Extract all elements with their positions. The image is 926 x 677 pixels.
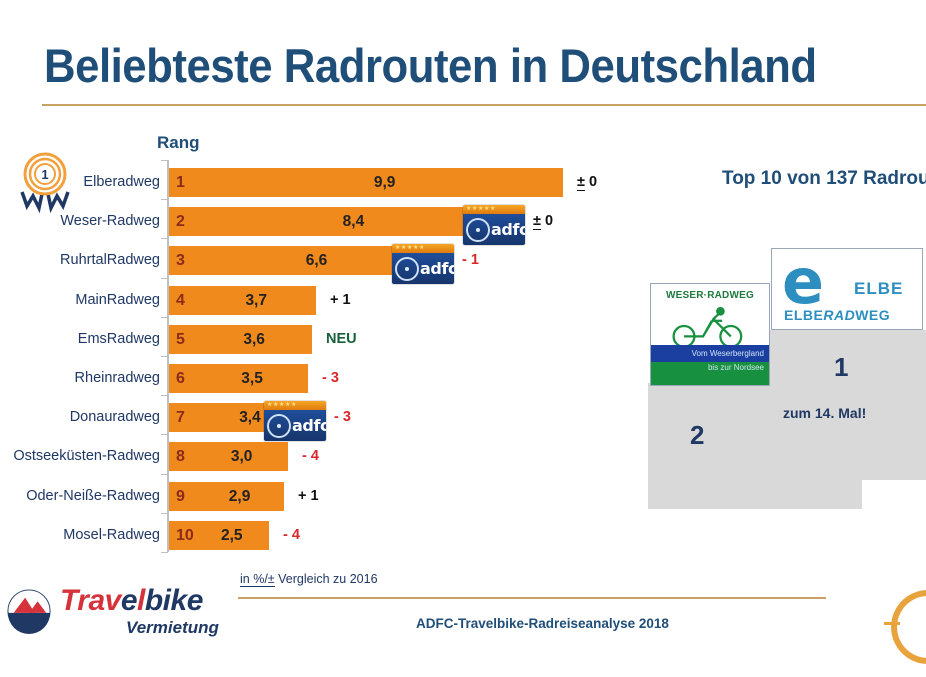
axis-tick: [161, 238, 168, 239]
adfc-badge-stars: ★★★★★: [264, 401, 326, 410]
elbe-word-c: WEG: [855, 307, 890, 323]
rank-change-label: + 1: [330, 286, 351, 315]
star-icon: ★: [478, 207, 483, 212]
title-divider: [42, 104, 926, 106]
bar: [169, 442, 288, 471]
rank-change-label: NEU: [326, 325, 357, 354]
travelbike-logo: Travelbike Vermietung: [6, 586, 224, 658]
rank-number: 1: [176, 168, 185, 197]
source-caption: ADFC-Travelbike-Radreiseanalyse 2018: [416, 616, 669, 631]
rank-change-label: + 1: [298, 482, 319, 511]
chart-row: Mosel-Radweg102,5- 4: [0, 516, 926, 554]
rank-change-label: - 3: [334, 403, 351, 432]
footer-divider: [238, 597, 826, 599]
bar: [169, 364, 308, 393]
tb-part-1: Trav: [60, 584, 121, 617]
podium-second-number: 2: [690, 420, 704, 451]
bike-wheel-icon: [395, 257, 419, 281]
elbe-logo-mark: e: [782, 251, 824, 313]
star-icon: ★: [466, 207, 471, 212]
weser-radweg-logo: WESER·RADWEG Vom Weserbergland bis zur N…: [650, 283, 770, 386]
rank-change-label: - 4: [302, 442, 319, 471]
travelbike-subtitle: Vermietung: [126, 618, 219, 638]
elbe-word-a: ELBE: [784, 307, 823, 323]
star-icon: ★: [490, 207, 495, 212]
category-label: Mosel-Radweg: [63, 516, 160, 554]
star-icon: ★: [291, 403, 296, 408]
top10-heading: Top 10 von 137 Radrou: [722, 168, 926, 190]
value-label: 3,7: [245, 286, 267, 315]
adfc-badge-label: adfc: [420, 259, 454, 278]
value-label: 9,9: [374, 168, 396, 197]
rank-number: 5: [176, 325, 185, 354]
rank-change-label: - 3: [322, 364, 339, 393]
elberadweg-logo: e ELBE ELBERADWEG: [771, 248, 923, 330]
bike-wheel-icon: [466, 218, 490, 242]
bike-wheel-icon: [267, 414, 291, 438]
axis-tick: [161, 278, 168, 279]
star-icon: ★: [484, 207, 489, 212]
travelbike-circle-icon: [6, 588, 52, 634]
tb-part-3: l: [137, 584, 145, 617]
rank-number: 10: [176, 521, 194, 550]
axis-tick: [161, 199, 168, 200]
category-label: EmsRadweg: [78, 320, 160, 358]
travelbike-wordmark: Travelbike: [60, 584, 203, 618]
value-label: 3,4: [239, 403, 261, 432]
rank-change-label: - 1: [462, 246, 479, 275]
rank-number: 9: [176, 482, 185, 511]
elbe-word-b: RAD: [823, 307, 855, 323]
adfc-quality-badge: ★★★★★adfc: [392, 244, 454, 284]
bar: [169, 482, 284, 511]
axis-tick: [161, 513, 168, 514]
weser-logo-line1: Vom Weserbergland: [650, 349, 764, 359]
page-title: Beliebteste Radrouten in Deutschland: [44, 38, 817, 94]
star-icon: ★: [279, 403, 284, 408]
rank-number: 2: [176, 207, 185, 236]
weser-logo-line2: bis zur Nordsee: [650, 363, 764, 373]
adfc-badge-stars: ★★★★★: [392, 244, 454, 253]
axis-tick: [161, 395, 168, 396]
axis-tick: [161, 474, 168, 475]
adfc-badge-stars: ★★★★★: [463, 205, 525, 214]
star-icon: ★: [401, 246, 406, 251]
rank-number: 7: [176, 403, 185, 432]
adfc-badge-label: adfc: [491, 220, 525, 239]
axis-title-rang: Rang: [157, 133, 200, 153]
podium-first-number: 1: [834, 352, 848, 383]
plusminus-symbol: ±: [533, 213, 541, 230]
category-label: Elberadweg: [83, 163, 160, 201]
footnote-text: Vergleich zu 2016: [278, 572, 377, 586]
star-icon: ★: [419, 246, 424, 251]
rank-change-label: ± 0: [577, 168, 597, 197]
weser-logo-band: Vom Weserbergland bis zur Nordsee: [651, 345, 769, 385]
elbe-logo-sub: ELBE: [854, 279, 903, 299]
rank-change-label: ± 0: [533, 207, 553, 236]
axis-tick: [161, 317, 168, 318]
adfc-quality-badge: ★★★★★adfc: [463, 205, 525, 245]
rank-number: 4: [176, 286, 185, 315]
category-label: RuhrtalRadweg: [60, 241, 160, 279]
value-label: 6,6: [306, 246, 328, 275]
adfc-quality-badge: ★★★★★adfc: [264, 401, 326, 441]
category-label: Rheinradweg: [75, 359, 160, 397]
elbe-logo-wordmark: ELBERADWEG: [784, 307, 890, 323]
bar: [169, 286, 316, 315]
axis-tick: [161, 552, 168, 553]
axis-tick: [161, 160, 168, 161]
star-icon: ★: [267, 403, 272, 408]
rank-number: 6: [176, 364, 185, 393]
star-icon: ★: [472, 207, 477, 212]
value-label: 3,5: [241, 364, 263, 393]
bar: [169, 207, 503, 236]
value-label: 8,4: [343, 207, 365, 236]
adfc-badge-label: adfc: [292, 416, 326, 435]
star-icon: ★: [407, 246, 412, 251]
footnote: in %/± Vergleich zu 2016: [240, 572, 378, 586]
value-label: 2,5: [221, 521, 243, 550]
infographic-canvas: Beliebteste Radrouten in Deutschland 1 R…: [0, 0, 926, 672]
footnote-unit: in %/±: [240, 572, 275, 587]
value-label: 3,0: [231, 442, 253, 471]
adfc-corner-logo: [884, 586, 926, 672]
plusminus-symbol: ±: [577, 174, 585, 191]
rank-number: 3: [176, 246, 185, 275]
podium-first-caption: zum 14. Mal!: [783, 405, 866, 421]
category-label: Oder-Neiße-Radweg: [26, 477, 160, 515]
tb-part-2: e: [121, 584, 137, 617]
star-icon: ★: [413, 246, 418, 251]
star-icon: ★: [285, 403, 290, 408]
category-label: Weser-Radweg: [60, 202, 160, 240]
rank-change-label: - 4: [283, 521, 300, 550]
category-label: Donauradweg: [70, 398, 160, 436]
tb-part-4: bike: [145, 584, 203, 617]
star-icon: ★: [273, 403, 278, 408]
category-label: Ostseeküsten-Radweg: [13, 437, 160, 475]
bar: [169, 325, 312, 354]
value-label: 2,9: [229, 482, 251, 511]
category-label: MainRadweg: [75, 281, 160, 319]
rank-number: 8: [176, 442, 185, 471]
value-label: 3,6: [243, 325, 265, 354]
chart-row: Weser-Radweg28,4★★★★★adfc± 0: [0, 202, 926, 240]
bar: [169, 168, 563, 197]
axis-tick: [161, 356, 168, 357]
star-icon: ★: [395, 246, 400, 251]
axis-tick: [161, 434, 168, 435]
